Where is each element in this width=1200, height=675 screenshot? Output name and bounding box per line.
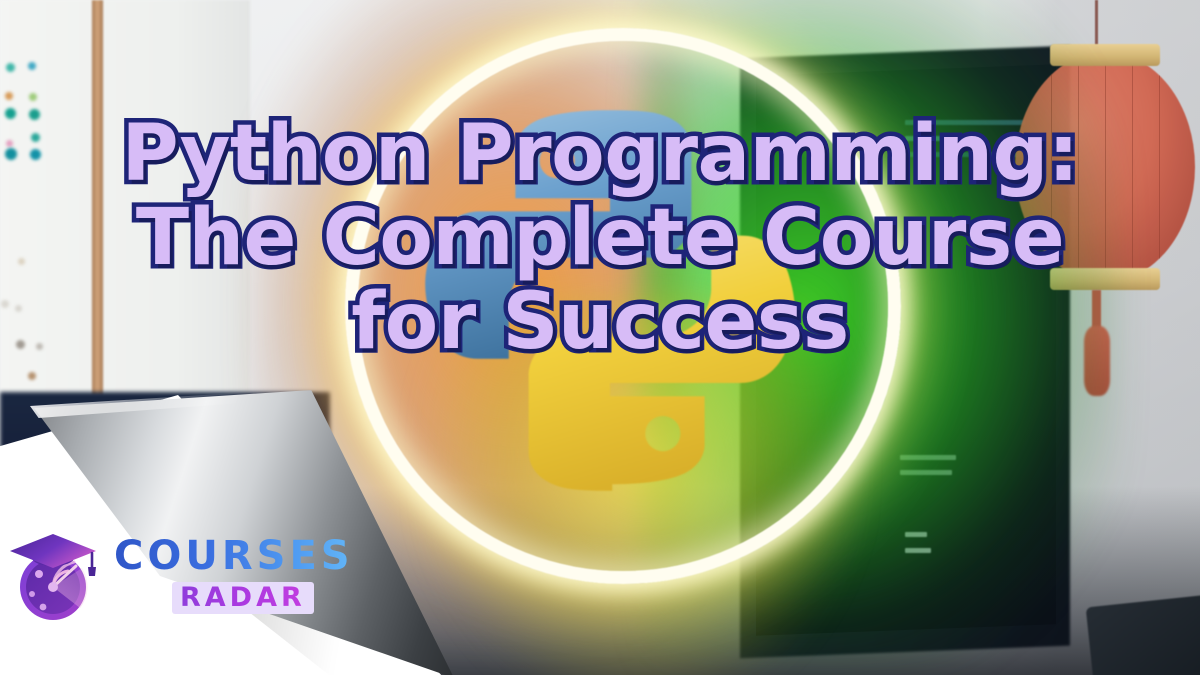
board-dot <box>5 92 13 100</box>
brand-logo[interactable]: COURSES RADAR <box>8 524 354 624</box>
title-line-3: for Success <box>0 280 1200 364</box>
board-dot <box>6 63 15 72</box>
board-dot <box>28 372 36 380</box>
brand-wordmark: COURSES RADAR <box>114 535 354 614</box>
thumbnail-canvas: Python Programming: The Complete Course … <box>0 0 1200 675</box>
title-line-1: Python Programming: <box>0 112 1200 196</box>
brand-primary-word: COURSES <box>114 535 354 577</box>
brand-secondary-badge: RADAR <box>172 582 314 614</box>
page-title: Python Programming: The Complete Course … <box>0 112 1200 364</box>
graduation-cap-radar-icon <box>8 524 100 624</box>
board-dot <box>28 62 36 70</box>
brand-secondary-word: RADAR <box>180 583 306 613</box>
board-dot <box>29 93 37 101</box>
title-line-2: The Complete Course <box>0 196 1200 280</box>
